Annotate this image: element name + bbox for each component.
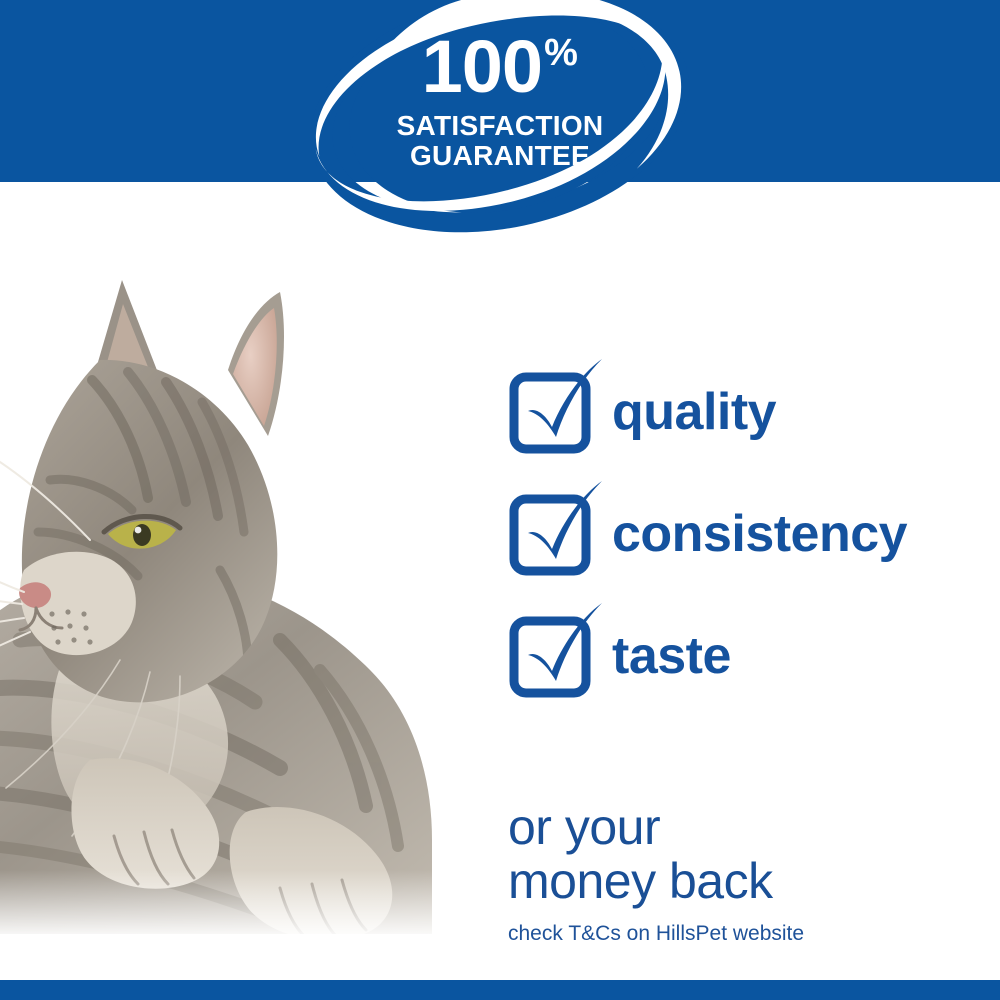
money-back-block: or your money back check T&Cs on HillsPe… — [508, 800, 978, 946]
checklist-item-quality: quality — [510, 372, 980, 452]
checkbox-checked-icon — [510, 497, 584, 571]
badge-percent-row: 100 % — [300, 30, 700, 104]
checkbox-checked-icon — [510, 619, 584, 693]
badge-percent-symbol: % — [544, 34, 578, 72]
badge-satisfaction-text: SATISFACTION — [300, 112, 700, 140]
checklist-label-consistency: consistency — [612, 508, 907, 560]
checklist-item-consistency: consistency — [510, 494, 980, 574]
satisfaction-guarantee-badge: 100 % SATISFACTION GUARANTEE — [300, 0, 700, 262]
terms-and-conditions-note: check T&Cs on HillsPet website — [508, 922, 978, 946]
badge-100-text: 100 — [422, 30, 542, 104]
benefits-checklist: quality consistency taste — [510, 372, 980, 738]
checklist-label-taste: taste — [612, 630, 731, 682]
badge-guarantee-text: GUARANTEE — [300, 142, 700, 170]
checklist-label-quality: quality — [612, 386, 776, 438]
checklist-item-taste: taste — [510, 616, 980, 696]
promo-banner: 100 % SATISFACTION GUARANTEE quality — [0, 0, 1000, 1000]
money-back-line-1: or your — [508, 800, 978, 854]
checkbox-checked-icon — [510, 375, 584, 449]
bottom-blue-band — [0, 980, 1000, 1000]
cat-photo — [0, 240, 520, 940]
money-back-line-2: money back — [508, 854, 978, 908]
